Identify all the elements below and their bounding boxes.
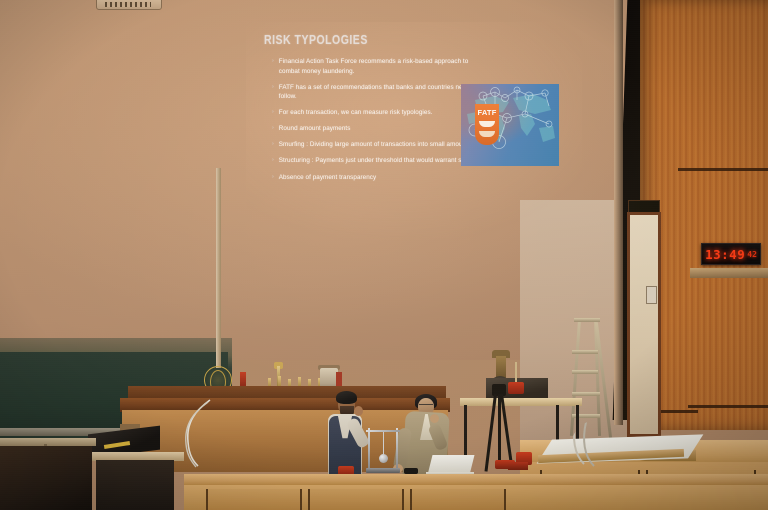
- chevron-right-icon: ›: [272, 57, 274, 76]
- screen-support-pole: [216, 168, 221, 368]
- list-item: › Structuring : Payments just under thre…: [272, 156, 484, 166]
- bullet-text: Financial Action Task Force recommends a…: [279, 57, 484, 76]
- left-shelf: [0, 438, 96, 446]
- ceiling-fixture: [96, 0, 162, 10]
- fatf-world-map-graphic: FATF: [461, 84, 559, 166]
- fatf-logo: FATF: [475, 104, 499, 145]
- chevron-right-icon: ›: [272, 173, 274, 183]
- wall-recess-edge: [614, 0, 623, 425]
- list-item: › FATF has a set of recommendations that…: [272, 83, 484, 102]
- wall-panel: [627, 212, 661, 437]
- turban: [336, 391, 357, 404]
- list-item: › Smurfing : Dividing large amount of tr…: [272, 140, 484, 150]
- digital-wall-clock: 13:49 42: [701, 243, 761, 265]
- left-dark-equipment: [0, 446, 92, 510]
- projected-slide: RISK TYPOLOGIES › Financial Action Task …: [246, 22, 582, 240]
- clock-time: 13:49: [705, 247, 745, 262]
- list-item: › For each transaction, we can measure r…: [272, 108, 484, 118]
- chevron-right-icon: ›: [272, 124, 274, 134]
- hanging-cables: [570, 420, 624, 480]
- chevron-right-icon: ›: [272, 108, 274, 118]
- bullet-text: Smurfing : Dividing large amount of tran…: [279, 140, 484, 150]
- light-switch-plate[interactable]: [646, 286, 657, 304]
- bullet-text: FATF has a set of recommendations that b…: [279, 83, 484, 102]
- chevron-right-icon: ›: [272, 156, 274, 166]
- list-item: › Round amount payments: [272, 124, 484, 134]
- bullet-text: Round amount payments: [279, 124, 484, 134]
- slide-title: RISK TYPOLOGIES: [264, 33, 368, 47]
- clock-seconds: 42: [747, 250, 757, 259]
- chevron-right-icon: ›: [272, 83, 274, 102]
- clock-shelf: [690, 268, 768, 278]
- slide-bullet-list: › Financial Action Task Force recommends…: [272, 57, 484, 189]
- bullet-text: Structuring : Payments just under thresh…: [279, 156, 484, 166]
- glasses-icon: [419, 404, 433, 408]
- bullet-text: Absence of payment transparency: [279, 173, 484, 183]
- lecture-hall-photo: RISK TYPOLOGIES › Financial Action Task …: [0, 0, 768, 510]
- list-item: › Financial Action Task Force recommends…: [272, 57, 484, 76]
- chevron-right-icon: ›: [272, 140, 274, 150]
- list-item: › Absence of payment transparency: [272, 173, 484, 183]
- bullet-text: For each transaction, we can measure ris…: [279, 108, 484, 118]
- red-block-base: [508, 462, 528, 470]
- fatf-logo-label: FATF: [475, 108, 499, 117]
